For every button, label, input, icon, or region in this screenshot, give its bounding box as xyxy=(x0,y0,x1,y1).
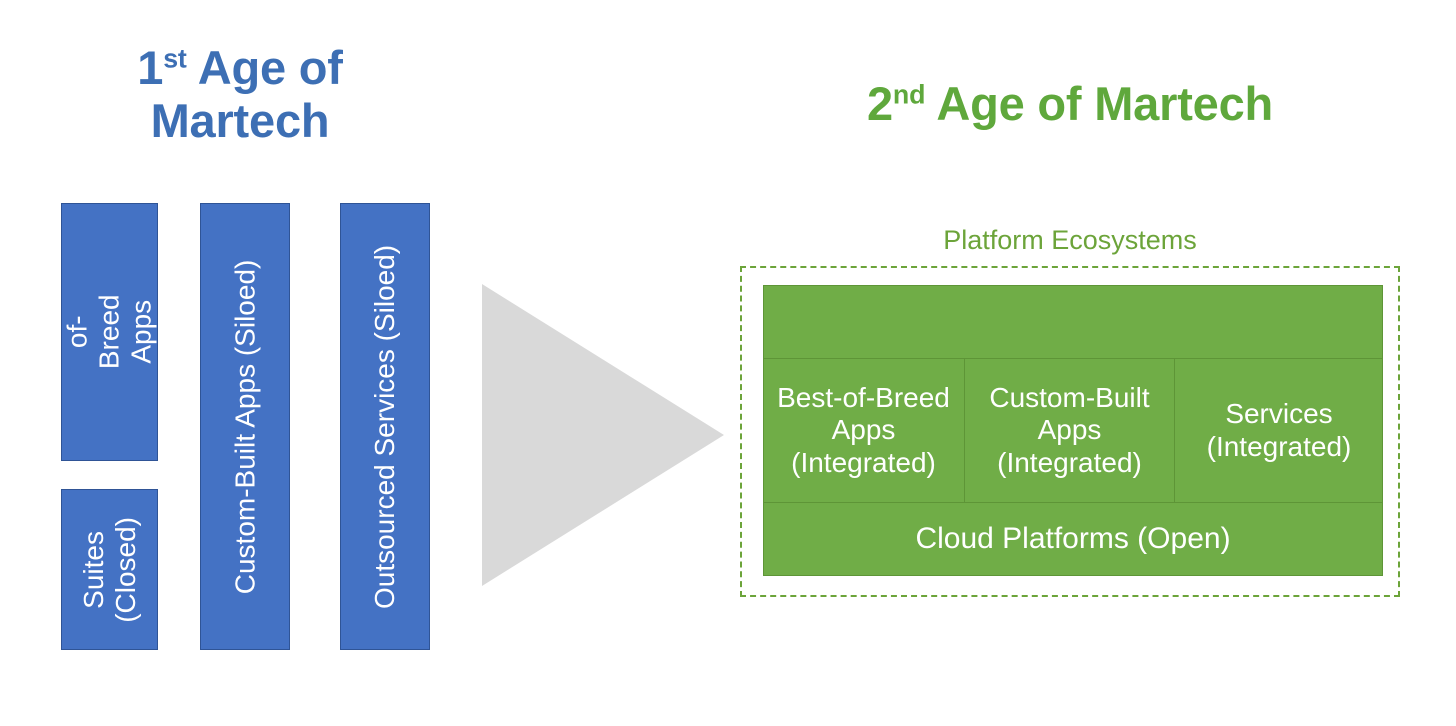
left-title: 1st Age of Martech xyxy=(60,42,420,147)
bar-best-of-breed-apps[interactable]: Best-of-Breed Apps (Siloed) xyxy=(61,203,158,461)
cell-services-integrated-label: Services (Integrated) xyxy=(1181,398,1377,463)
bar-custom-built-apps-label: Custom-Built Apps (Siloed) xyxy=(229,259,261,594)
bar-suites-label: Suites (Closed) xyxy=(78,517,142,623)
transition-arrow-icon xyxy=(482,284,724,586)
bar-best-of-breed-apps-label: Best-of-Breed Apps (Siloed) xyxy=(61,284,158,380)
right-title-rest: Age of Martech xyxy=(925,77,1273,130)
right-title-ordinal: nd xyxy=(893,79,925,109)
platform-ecosystems-label: Platform Ecosystems xyxy=(740,226,1400,256)
bar-suites[interactable]: Suites (Closed) xyxy=(61,489,158,650)
bar-custom-built-apps[interactable]: Custom-Built Apps (Siloed) xyxy=(200,203,290,650)
bar-outsourced-services-label: Outsourced Services (Siloed) xyxy=(369,244,401,608)
cell-cloud-platforms-open-label: Cloud Platforms (Open) xyxy=(915,522,1230,557)
cell-best-of-breed-apps-integrated[interactable]: Best-of-Breed Apps (Integrated) xyxy=(763,358,965,502)
cell-custom-built-apps-integrated-label: Custom-Built Apps (Integrated) xyxy=(971,382,1168,479)
left-title-ordinal: st xyxy=(163,43,186,73)
right-title-number: 2 xyxy=(867,77,893,130)
left-title-number: 1 xyxy=(137,41,163,94)
right-title: 2nd Age of Martech xyxy=(760,78,1380,131)
cell-custom-built-apps-integrated[interactable]: Custom-Built Apps (Integrated) xyxy=(965,358,1175,502)
cell-cloud-platforms-open[interactable]: Cloud Platforms (Open) xyxy=(763,502,1383,576)
bar-outsourced-services[interactable]: Outsourced Services (Siloed) xyxy=(340,203,430,650)
cell-best-of-breed-apps-integrated-label: Best-of-Breed Apps (Integrated) xyxy=(769,382,958,479)
cell-services-integrated[interactable]: Services (Integrated) xyxy=(1175,358,1383,502)
diagram-canvas: 1st Age of Martech Best-of-Breed Apps (S… xyxy=(0,0,1456,726)
